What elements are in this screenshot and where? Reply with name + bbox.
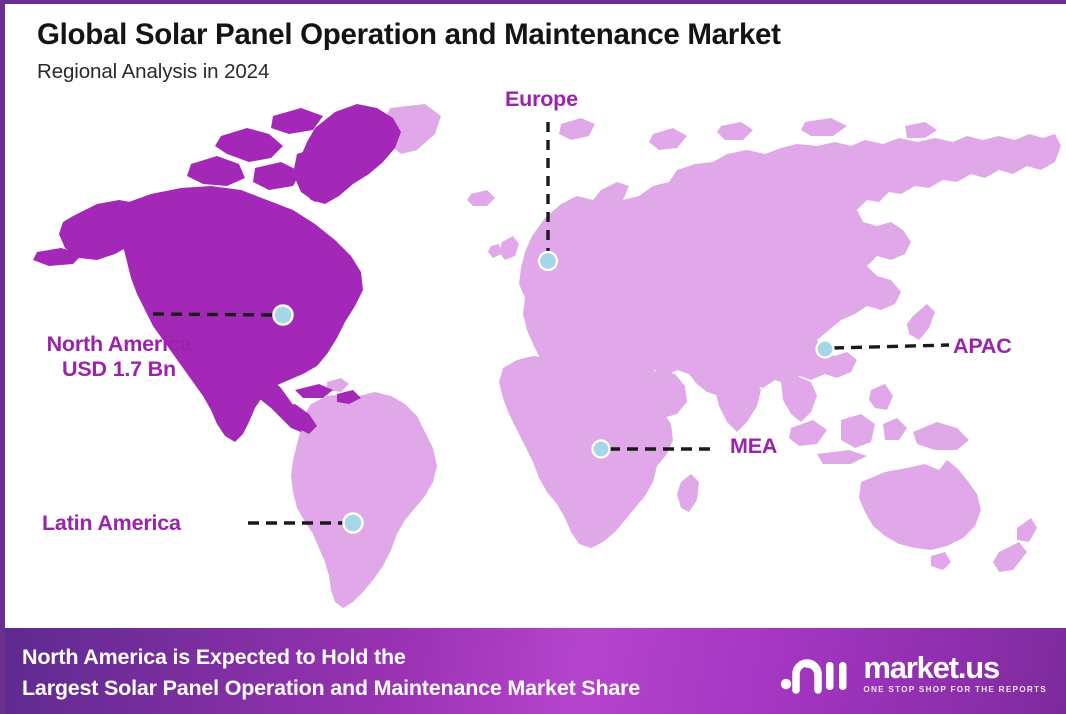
callout-north-america: North America USD 1.7 Bn (21, 332, 217, 383)
callout-north-america-value: USD 1.7 Bn (21, 357, 217, 382)
callout-mea-name: MEA (730, 434, 777, 458)
marker-europe[interactable] (539, 252, 557, 270)
footer-banner: North America is Expected to Hold the La… (0, 628, 1066, 714)
callout-europe: Europe (505, 87, 578, 112)
callout-latin-america-name: Latin America (42, 511, 181, 535)
callout-mea: MEA (730, 434, 777, 459)
market-us-logo-mark-icon (780, 650, 854, 696)
callout-europe-name: Europe (505, 87, 578, 111)
callout-apac: APAC (953, 334, 1012, 359)
marker-latin-america[interactable] (344, 514, 363, 533)
marker-mea[interactable] (593, 441, 610, 458)
market-us-logo[interactable]: market.us ONE STOP SHOP FOR THE REPORTS (780, 650, 1053, 696)
header: Global Solar Panel Operation and Mainten… (5, 4, 1066, 84)
footer-banner-line2: Largest Solar Panel Operation and Mainte… (22, 673, 640, 704)
callout-apac-name: APAC (953, 334, 1012, 358)
logo-brand-name: market.us (863, 652, 999, 683)
marker-apac[interactable] (817, 341, 834, 358)
infographic-root: Global Solar Panel Operation and Mainten… (0, 0, 1066, 714)
page-subtitle: Regional Analysis in 2024 (37, 60, 1066, 84)
market-us-logo-text: market.us ONE STOP SHOP FOR THE REPORTS (863, 652, 1047, 694)
footer-banner-text: North America is Expected to Hold the La… (22, 642, 640, 703)
footer-banner-line1: North America is Expected to Hold the (22, 642, 640, 673)
logo-tagline: ONE STOP SHOP FOR THE REPORTS (863, 686, 1047, 694)
marker-north-america[interactable] (274, 306, 293, 325)
callout-latin-america: Latin America (42, 511, 181, 536)
page-title: Global Solar Panel Operation and Mainten… (37, 18, 1066, 52)
callout-north-america-name: North America (47, 332, 192, 356)
